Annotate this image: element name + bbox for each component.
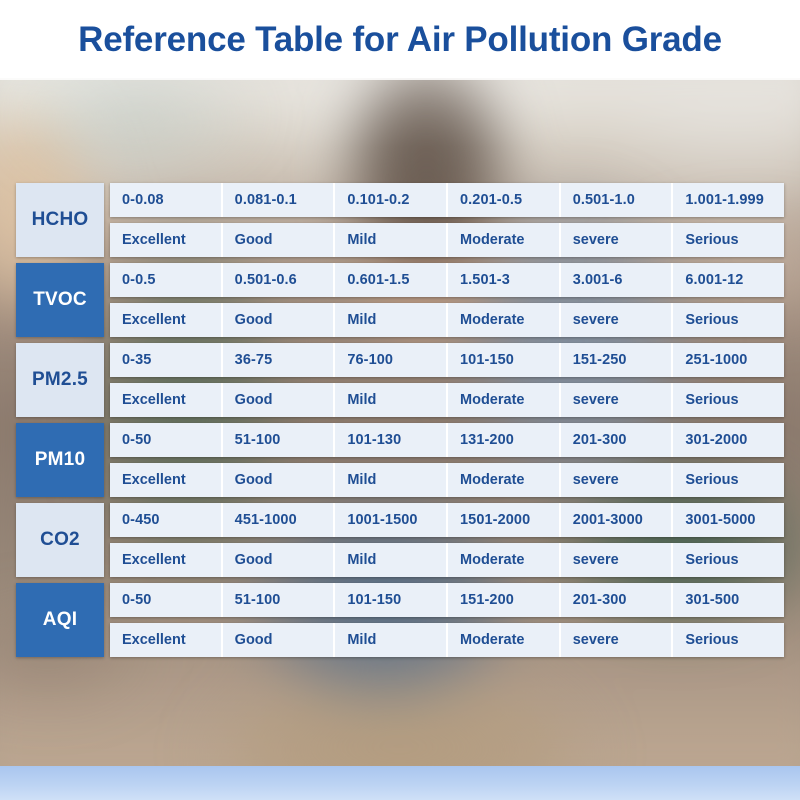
value-range-row: 0-450451-10001001-15001501-20002001-3000…	[110, 503, 784, 537]
grade-level-cell: Serious	[673, 543, 784, 577]
pollutant-row: CO20-450451-10001001-15001501-20002001-3…	[16, 503, 784, 577]
reference-table-page: Reference Table for Air Pollution Grade …	[0, 0, 800, 800]
value-range-cell: 0.201-0.5	[448, 183, 561, 217]
grade-level-cell: Good	[223, 463, 336, 497]
value-range-row: 0-3536-7576-100101-150151-250251-1000	[110, 343, 784, 377]
value-range-cell: 0-450	[110, 503, 223, 537]
pollutant-row-body: 0-3536-7576-100101-150151-250251-1000Exc…	[110, 343, 784, 417]
grade-level-cell: Good	[223, 303, 336, 337]
pollutant-label-co2: CO2	[16, 503, 104, 577]
grade-level-cell: Moderate	[448, 223, 561, 257]
value-range-cell: 76-100	[335, 343, 448, 377]
grade-level-cell: Excellent	[110, 303, 223, 337]
grade-level-row: ExcellentGoodMildModeratesevereSerious	[110, 383, 784, 417]
pollutant-row-body: 0-0.50.501-0.60.601-1.51.501-33.001-66.0…	[110, 263, 784, 337]
pollutant-row: PM2.50-3536-7576-100101-150151-250251-10…	[16, 343, 784, 417]
value-range-cell: 301-2000	[673, 423, 784, 457]
grade-level-cell: Good	[223, 623, 336, 657]
value-range-cell: 0-50	[110, 583, 223, 617]
bottom-accent-bar	[0, 766, 800, 800]
value-range-cell: 0.601-1.5	[335, 263, 448, 297]
grade-level-cell: Moderate	[448, 303, 561, 337]
value-range-row: 0-0.080.081-0.10.101-0.20.201-0.50.501-1…	[110, 183, 784, 217]
value-range-cell: 131-200	[448, 423, 561, 457]
value-range-row: 0-0.50.501-0.60.601-1.51.501-33.001-66.0…	[110, 263, 784, 297]
grade-level-cell: Mild	[335, 623, 448, 657]
value-range-cell: 0-0.5	[110, 263, 223, 297]
grade-level-cell: Moderate	[448, 383, 561, 417]
value-range-cell: 201-300	[561, 423, 674, 457]
value-range-cell: 1.501-3	[448, 263, 561, 297]
grade-level-cell: severe	[561, 623, 674, 657]
grade-level-cell: Mild	[335, 383, 448, 417]
pollutant-row-body: 0-0.080.081-0.10.101-0.20.201-0.50.501-1…	[110, 183, 784, 257]
grade-level-cell: Mild	[335, 543, 448, 577]
value-range-cell: 151-200	[448, 583, 561, 617]
value-range-cell: 101-130	[335, 423, 448, 457]
value-range-cell: 36-75	[223, 343, 336, 377]
pollutant-label-pm10: PM10	[16, 423, 104, 497]
value-range-cell: 151-250	[561, 343, 674, 377]
pollutant-row-body: 0-450451-10001001-15001501-20002001-3000…	[110, 503, 784, 577]
value-range-cell: 0.101-0.2	[335, 183, 448, 217]
grade-level-cell: Mild	[335, 303, 448, 337]
grade-level-cell: Serious	[673, 623, 784, 657]
pollutant-row: TVOC0-0.50.501-0.60.601-1.51.501-33.001-…	[16, 263, 784, 337]
value-range-cell: 1.001-1.999	[673, 183, 784, 217]
value-range-cell: 201-300	[561, 583, 674, 617]
grade-level-cell: Moderate	[448, 623, 561, 657]
value-range-cell: 101-150	[448, 343, 561, 377]
grade-level-cell: Serious	[673, 223, 784, 257]
value-range-cell: 1001-1500	[335, 503, 448, 537]
value-range-cell: 301-500	[673, 583, 784, 617]
value-range-cell: 0.501-1.0	[561, 183, 674, 217]
pollutant-row: PM100-5051-100101-130131-200201-300301-2…	[16, 423, 784, 497]
value-range-cell: 3.001-6	[561, 263, 674, 297]
grade-level-row: ExcellentGoodMildModeratesevereSerious	[110, 303, 784, 337]
grade-level-cell: Moderate	[448, 463, 561, 497]
page-title: Reference Table for Air Pollution Grade	[78, 20, 722, 60]
value-range-cell: 0-50	[110, 423, 223, 457]
pollutant-row-body: 0-5051-100101-130131-200201-300301-2000E…	[110, 423, 784, 497]
pollutant-row: HCHO0-0.080.081-0.10.101-0.20.201-0.50.5…	[16, 183, 784, 257]
value-range-cell: 51-100	[223, 583, 336, 617]
value-range-cell: 3001-5000	[673, 503, 784, 537]
grade-level-cell: Serious	[673, 463, 784, 497]
grade-level-cell: Serious	[673, 303, 784, 337]
pollutant-label-pm2-5: PM2.5	[16, 343, 104, 417]
grade-level-cell: Moderate	[448, 543, 561, 577]
value-range-cell: 251-1000	[673, 343, 784, 377]
pollutant-label-tvoc: TVOC	[16, 263, 104, 337]
value-range-cell: 2001-3000	[561, 503, 674, 537]
value-range-cell: 6.001-12	[673, 263, 784, 297]
grade-level-cell: Excellent	[110, 463, 223, 497]
grade-level-cell: Excellent	[110, 543, 223, 577]
air-pollution-grade-table: HCHO0-0.080.081-0.10.101-0.20.201-0.50.5…	[16, 183, 784, 657]
pollutant-label-hcho: HCHO	[16, 183, 104, 257]
grade-level-cell: Excellent	[110, 623, 223, 657]
grade-level-cell: severe	[561, 223, 674, 257]
value-range-row: 0-5051-100101-130131-200201-300301-2000	[110, 423, 784, 457]
grade-level-cell: Good	[223, 383, 336, 417]
grade-level-cell: Good	[223, 543, 336, 577]
value-range-cell: 0-0.08	[110, 183, 223, 217]
grade-level-cell: Serious	[673, 383, 784, 417]
grade-level-row: ExcellentGoodMildModeratesevereSerious	[110, 543, 784, 577]
grade-level-row: ExcellentGoodMildModeratesevereSerious	[110, 223, 784, 257]
value-range-cell: 1501-2000	[448, 503, 561, 537]
grade-level-cell: Good	[223, 223, 336, 257]
page-header: Reference Table for Air Pollution Grade	[0, 0, 800, 80]
grade-level-row: ExcellentGoodMildModeratesevereSerious	[110, 463, 784, 497]
value-range-cell: 0.081-0.1	[223, 183, 336, 217]
grade-level-cell: Excellent	[110, 383, 223, 417]
value-range-row: 0-5051-100101-150151-200201-300301-500	[110, 583, 784, 617]
pollutant-label-aqi: AQI	[16, 583, 104, 657]
grade-level-cell: severe	[561, 383, 674, 417]
pollutant-row: AQI0-5051-100101-150151-200201-300301-50…	[16, 583, 784, 657]
grade-level-cell: severe	[561, 543, 674, 577]
grade-level-cell: severe	[561, 463, 674, 497]
value-range-cell: 0-35	[110, 343, 223, 377]
grade-level-cell: Mild	[335, 223, 448, 257]
value-range-cell: 51-100	[223, 423, 336, 457]
grade-level-cell: severe	[561, 303, 674, 337]
value-range-cell: 0.501-0.6	[223, 263, 336, 297]
grade-level-row: ExcellentGoodMildModeratesevereSerious	[110, 623, 784, 657]
grade-level-cell: Mild	[335, 463, 448, 497]
grade-level-cell: Excellent	[110, 223, 223, 257]
value-range-cell: 101-150	[335, 583, 448, 617]
value-range-cell: 451-1000	[223, 503, 336, 537]
pollutant-row-body: 0-5051-100101-150151-200201-300301-500Ex…	[110, 583, 784, 657]
